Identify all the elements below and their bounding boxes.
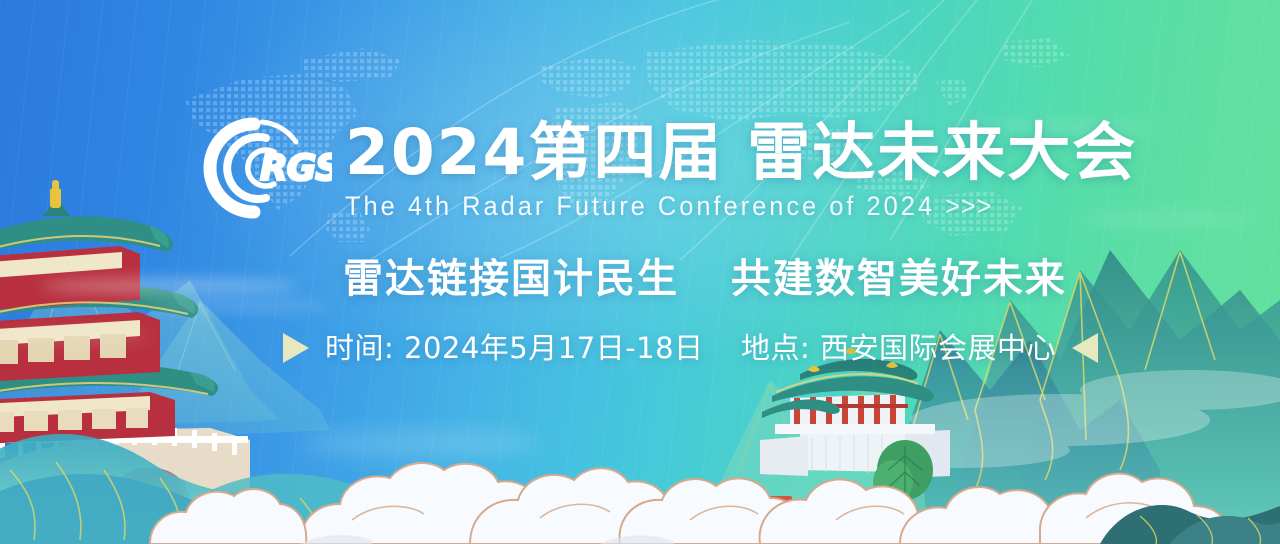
- play-triangle-right-icon: [283, 333, 309, 363]
- title-block: 2024第四届 雷达未来大会 The 4th Radar Future Conf…: [345, 118, 1137, 222]
- play-triangle-left-icon: [1072, 333, 1098, 363]
- page-subtitle: The 4th Radar Future Conference of 2024 …: [345, 190, 1090, 222]
- place-label: 地点:: [741, 331, 810, 365]
- slogan: 雷达链接国计民生 共建数智美好未来: [343, 255, 1067, 303]
- time-value: 2024年5月17日-18日: [404, 331, 704, 365]
- logo-text: RGS: [260, 148, 332, 189]
- page-title: 2024第四届 雷达未来大会: [345, 118, 1137, 188]
- slogan-part-1: 雷达链接国计民生: [343, 256, 679, 302]
- time-label: 时间:: [325, 331, 394, 365]
- banner-content: RGS 2024第四届 雷达未来大会 The 4th Radar Future …: [0, 0, 1280, 544]
- event-meta-text: 时间: 2024年5月17日-18日 地点: 西安国际会展中心: [325, 331, 1056, 365]
- subtitle-text: The 4th Radar Future Conference of 2024: [345, 191, 935, 221]
- chevron-right-icon: >>>: [945, 191, 992, 221]
- conference-banner: RGS 2024第四届 雷达未来大会 The 4th Radar Future …: [0, 0, 1280, 544]
- event-meta-row: 时间: 2024年5月17日-18日 地点: 西安国际会展中心: [283, 331, 1098, 365]
- rgs-radar-logo: RGS: [192, 116, 332, 220]
- place-value: 西安国际会展中心: [820, 331, 1056, 365]
- slogan-part-2: 共建数智美好未来: [731, 256, 1067, 302]
